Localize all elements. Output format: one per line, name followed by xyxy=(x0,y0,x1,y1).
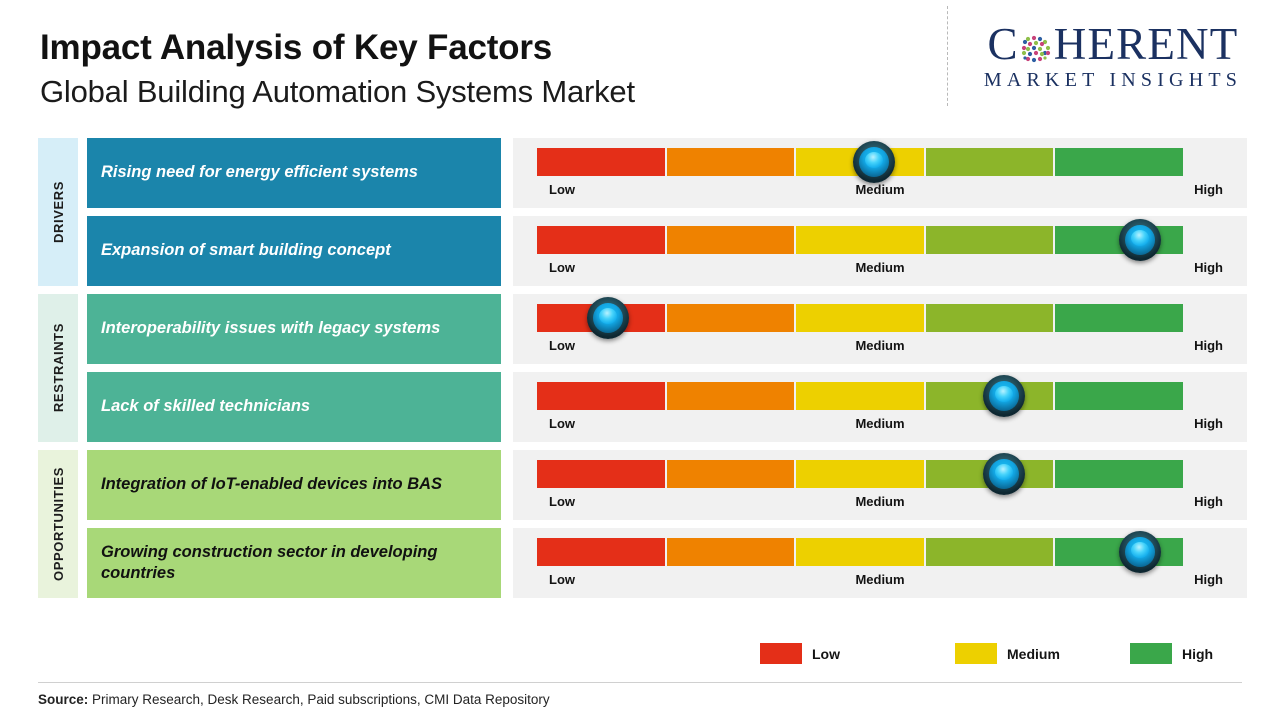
impact-gauge-panel: LowMediumHigh xyxy=(513,450,1247,520)
legend-swatch-low xyxy=(760,643,802,664)
marker-core-icon xyxy=(995,386,1013,402)
factor-label: Rising need for energy efficient systems xyxy=(101,162,418,183)
impact-gauge-bar[interactable] xyxy=(537,538,1185,566)
gauge-label-high: High xyxy=(1194,260,1223,275)
impact-gauge-panel: LowMediumHigh xyxy=(513,294,1247,364)
category-group-restraints: RESTRAINTSInteroperability issues with l… xyxy=(0,294,1280,450)
legend-label: Low xyxy=(812,646,840,662)
impact-marker[interactable] xyxy=(1119,219,1161,261)
source-text: Primary Research, Desk Research, Paid su… xyxy=(88,692,549,707)
gauge-segment-4 xyxy=(926,148,1054,176)
gauge-label-high: High xyxy=(1194,338,1223,353)
marker-core-icon xyxy=(1131,230,1149,246)
gauge-segment-3 xyxy=(796,304,924,332)
page-title: Impact Analysis of Key Factors xyxy=(40,28,635,67)
factor-row: Rising need for energy efficient systems… xyxy=(0,138,1280,208)
factor-row: Lack of skilled techniciansLowMediumHigh xyxy=(0,372,1280,442)
gauge-label-medium: Medium xyxy=(855,182,904,197)
gauge-scale-labels: LowMediumHigh xyxy=(537,338,1223,358)
gauge-label-high: High xyxy=(1194,494,1223,509)
category-group-drivers: DRIVERSRising need for energy efficient … xyxy=(0,138,1280,294)
gauge-scale-labels: LowMediumHigh xyxy=(537,494,1223,514)
marker-core-icon xyxy=(995,464,1013,480)
gauge-segment-1 xyxy=(537,226,665,254)
globe-dots-icon xyxy=(1019,30,1053,64)
header-divider xyxy=(947,6,948,106)
gauge-segment-2 xyxy=(667,226,795,254)
gauge-label-high: High xyxy=(1194,182,1223,197)
gauge-segment-3 xyxy=(796,226,924,254)
impact-gauge-panel: LowMediumHigh xyxy=(513,372,1247,442)
factor-label-box[interactable]: Integration of IoT-enabled devices into … xyxy=(87,450,501,520)
header: Impact Analysis of Key Factors Global Bu… xyxy=(0,0,1280,130)
gauge-segment-1 xyxy=(537,460,665,488)
gauge-scale-labels: LowMediumHigh xyxy=(537,182,1223,202)
gauge-segment-2 xyxy=(667,304,795,332)
source-label: Source: xyxy=(38,692,88,707)
gauge-label-medium: Medium xyxy=(855,338,904,353)
factor-label-box[interactable]: Expansion of smart building concept xyxy=(87,216,501,286)
legend: LowMediumHigh xyxy=(760,643,1210,669)
factor-label: Growing construction sector in developin… xyxy=(101,542,487,585)
legend-item-medium: Medium xyxy=(955,643,1060,664)
gauge-label-low: Low xyxy=(549,494,575,509)
impact-matrix: DRIVERSRising need for energy efficient … xyxy=(0,138,1280,606)
gauge-segment-3 xyxy=(796,382,924,410)
impact-gauge-bar[interactable] xyxy=(537,382,1185,410)
factor-row: Interoperability issues with legacy syst… xyxy=(0,294,1280,364)
gauge-segment-4 xyxy=(926,538,1054,566)
impact-marker[interactable] xyxy=(853,141,895,183)
gauge-label-medium: Medium xyxy=(855,260,904,275)
impact-marker[interactable] xyxy=(1119,531,1161,573)
factor-label: Interoperability issues with legacy syst… xyxy=(101,318,440,339)
gauge-segment-5 xyxy=(1055,460,1183,488)
footer-divider xyxy=(38,682,1242,683)
gauge-scale-labels: LowMediumHigh xyxy=(537,260,1223,280)
impact-gauge-panel: LowMediumHigh xyxy=(513,138,1247,208)
factor-row: Growing construction sector in developin… xyxy=(0,528,1280,598)
impact-marker[interactable] xyxy=(587,297,629,339)
gauge-segment-2 xyxy=(667,538,795,566)
gauge-label-low: Low xyxy=(549,572,575,587)
logo-tagline: MARKET INSIGHTS xyxy=(960,69,1266,92)
gauge-label-medium: Medium xyxy=(855,572,904,587)
logo-wordmark: C xyxy=(960,22,1266,67)
impact-gauge-panel: LowMediumHigh xyxy=(513,528,1247,598)
marker-core-icon xyxy=(599,308,617,324)
gauge-segment-2 xyxy=(667,382,795,410)
gauge-label-low: Low xyxy=(549,416,575,431)
gauge-segment-5 xyxy=(1055,304,1183,332)
gauge-segment-2 xyxy=(667,460,795,488)
gauge-segment-4 xyxy=(926,226,1054,254)
gauge-label-medium: Medium xyxy=(855,494,904,509)
factor-label-box[interactable]: Interoperability issues with legacy syst… xyxy=(87,294,501,364)
logo: C xyxy=(960,22,1266,92)
legend-swatch-high xyxy=(1130,643,1172,664)
title-block: Impact Analysis of Key Factors Global Bu… xyxy=(40,28,635,110)
impact-gauge-bar[interactable] xyxy=(537,304,1185,332)
gauge-label-low: Low xyxy=(549,260,575,275)
factor-label-box[interactable]: Rising need for energy efficient systems xyxy=(87,138,501,208)
gauge-segment-4 xyxy=(926,304,1054,332)
source-note: Source: Primary Research, Desk Research,… xyxy=(38,692,550,707)
gauge-scale-labels: LowMediumHigh xyxy=(537,416,1223,436)
gauge-segment-1 xyxy=(537,382,665,410)
gauge-segment-5 xyxy=(1055,148,1183,176)
factor-label: Lack of skilled technicians xyxy=(101,396,310,417)
impact-gauge-bar[interactable] xyxy=(537,148,1185,176)
gauge-segment-3 xyxy=(796,460,924,488)
gauge-segment-1 xyxy=(537,148,665,176)
category-group-opportunities: OPPORTUNITIESIntegration of IoT-enabled … xyxy=(0,450,1280,606)
legend-label: High xyxy=(1182,646,1213,662)
gauge-label-medium: Medium xyxy=(855,416,904,431)
gauge-label-low: Low xyxy=(549,338,575,353)
factor-row: Integration of IoT-enabled devices into … xyxy=(0,450,1280,520)
marker-core-icon xyxy=(865,152,883,168)
impact-gauge-panel: LowMediumHigh xyxy=(513,216,1247,286)
factor-label: Expansion of smart building concept xyxy=(101,240,391,261)
page-subtitle: Global Building Automation Systems Marke… xyxy=(40,73,635,110)
gauge-label-high: High xyxy=(1194,572,1223,587)
gauge-segment-1 xyxy=(537,538,665,566)
factor-label-box[interactable]: Growing construction sector in developin… xyxy=(87,528,501,598)
impact-gauge-bar[interactable] xyxy=(537,226,1185,254)
factor-label-box[interactable]: Lack of skilled technicians xyxy=(87,372,501,442)
factor-label: Integration of IoT-enabled devices into … xyxy=(101,474,442,495)
logo-letters-herent: HERENT xyxy=(1054,22,1239,67)
marker-core-icon xyxy=(1131,542,1149,558)
gauge-segment-3 xyxy=(796,538,924,566)
factor-row: Expansion of smart building conceptLowMe… xyxy=(0,216,1280,286)
gauge-segment-2 xyxy=(667,148,795,176)
legend-item-high: High xyxy=(1130,643,1213,664)
legend-label: Medium xyxy=(1007,646,1060,662)
gauge-segment-5 xyxy=(1055,382,1183,410)
impact-gauge-bar[interactable] xyxy=(537,460,1185,488)
logo-letter-c: C xyxy=(988,22,1019,67)
legend-item-low: Low xyxy=(760,643,840,664)
impact-marker[interactable] xyxy=(983,453,1025,495)
gauge-label-low: Low xyxy=(549,182,575,197)
legend-swatch-medium xyxy=(955,643,997,664)
gauge-scale-labels: LowMediumHigh xyxy=(537,572,1223,592)
gauge-label-high: High xyxy=(1194,416,1223,431)
infographic-page: Impact Analysis of Key Factors Global Bu… xyxy=(0,0,1280,720)
impact-marker[interactable] xyxy=(983,375,1025,417)
